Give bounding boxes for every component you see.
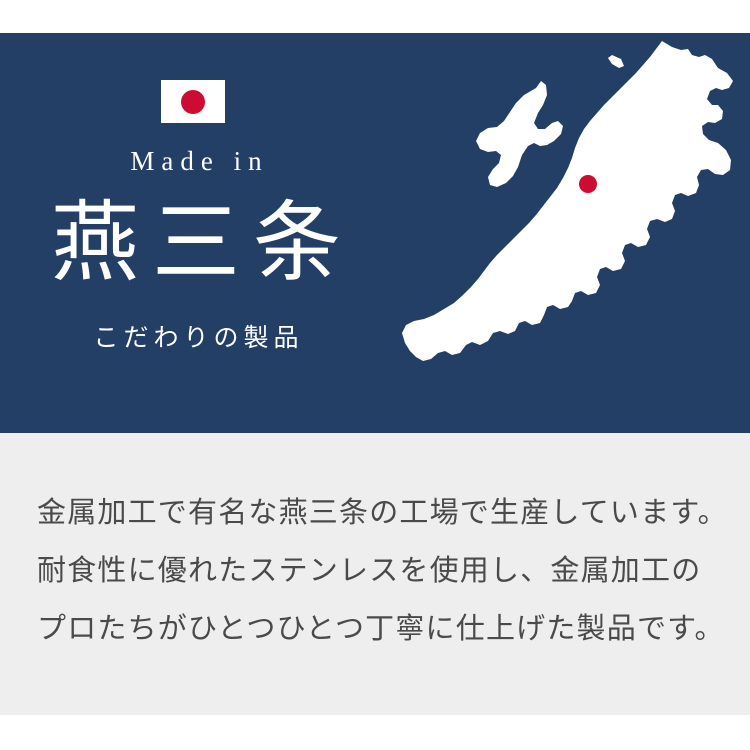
niigata-mainland-shape [402,41,733,361]
japan-flag-disc-icon [181,90,205,114]
niigata-map [400,33,750,433]
place-name-heading: 燕三条 [0,195,392,290]
promo-banner: Made in 燕三条 こだわりの製品 金属加工で有名な燕三条の工場で生産してい… [0,0,750,750]
description-line-1: 金属加工で有名な燕三条の工場で生産しています。 [37,483,717,541]
description-text-block: 金属加工で有名な燕三条の工場で生産しています。 耐食性に優れたステンレスを使用し… [37,483,717,657]
description-panel: 金属加工で有名な燕三条の工場で生産しています。 耐食性に優れたステンレスを使用し… [0,433,750,715]
japan-flag-icon [161,80,225,123]
location-marker-dot-icon [579,175,597,193]
bottom-white-margin [0,715,750,750]
hero-panel: Made in 燕三条 こだわりの製品 [0,33,750,433]
top-white-margin [0,0,750,33]
hero-text-block: Made in 燕三条 こだわりの製品 [0,33,400,433]
description-line-2: 耐食性に優れたステンレスを使用し、金属加工の [37,541,717,599]
awashima-island-shape [608,55,624,68]
niigata-prefecture-map-icon [400,33,750,433]
sado-island-shape [476,81,563,187]
made-in-label: Made in [0,148,392,175]
description-line-3: プロたちがひとつひとつ丁寧に仕上げた製品です。 [37,599,717,657]
tagline-label: こだわりの製品 [0,325,392,350]
